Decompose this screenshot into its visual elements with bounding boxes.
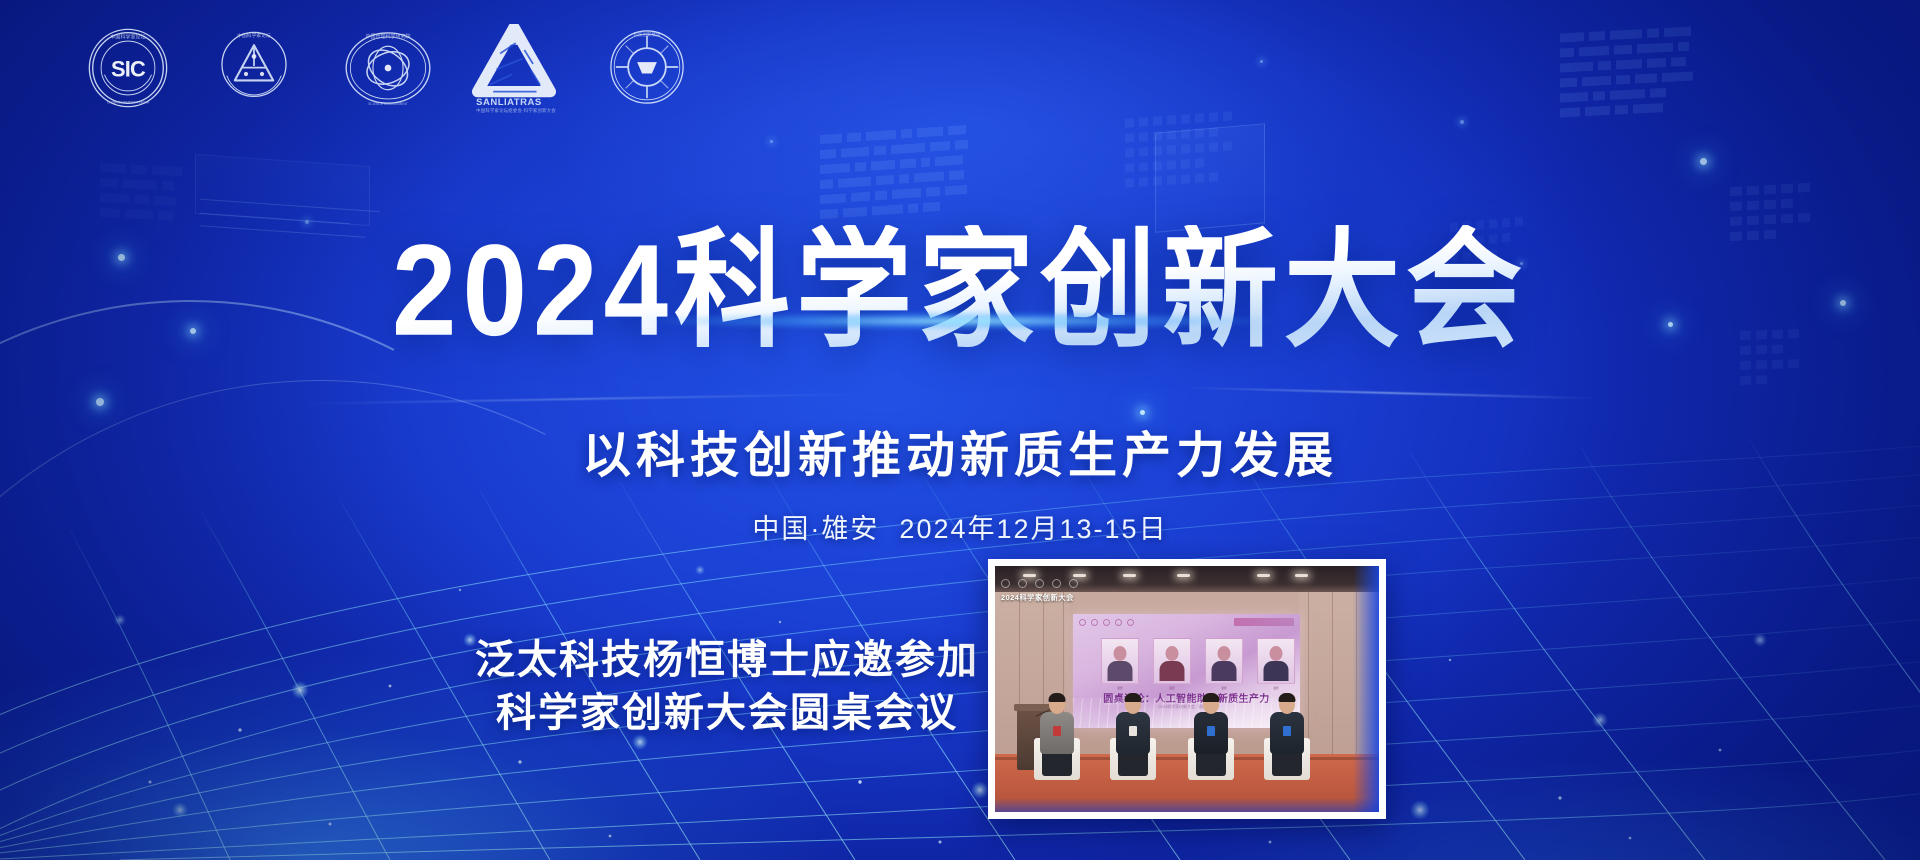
page-title: 2024科学家创新大会: [392, 225, 1528, 355]
sanlitras-logo-label: SANLIATRAS 中国科学家论坛组委会·科学家创新大会: [476, 97, 556, 114]
svg-text:SCIENCE MANAGEMENT: SCIENCE MANAGEMENT: [368, 102, 408, 106]
panel-discussion-photo: 2024科学家创新大会 嘉宾 嘉宾 嘉宾: [988, 559, 1386, 819]
photo-presentation-screen: 嘉宾 嘉宾 嘉宾 嘉宾 圆桌讨论：人工智能助力新质生产力 2024科学家创新大会…: [1073, 614, 1300, 728]
sanlitras-triangle-logo: SANLIATRAS 中国科学家论坛组委会·科学家创新大会: [470, 24, 562, 112]
atom-seal-logo: 中国管理科学研究院 SCIENCE MANAGEMENT: [342, 26, 426, 110]
event-meta: 中国·雄安2024年12月13-15日: [0, 507, 1920, 546]
photo-right-fade: [1353, 566, 1379, 812]
organizer-logos: SIC 中国科学家论坛 CHINA SCIENTIST FORUM: [86, 24, 690, 112]
svg-text:中国管理科学研究院: 中国管理科学研究院: [365, 33, 410, 40]
caption-line-1: 泛太科技杨恒博士应邀参加: [472, 634, 982, 687]
sic-seal-logo: SIC 中国科学家论坛 CHINA SCIENTIST FORUM: [86, 26, 170, 110]
svg-text:SIC: SIC: [111, 56, 146, 81]
svg-text:中国科学家论坛: 中国科学家论坛: [237, 32, 271, 39]
circular-emblem-logo: 科技创新联盟: [606, 26, 690, 110]
photo-hall-banner: 2024科学家创新大会: [1001, 593, 1074, 603]
photo-bottom-fade: [995, 798, 1379, 812]
caption-line-2: 科学家创新大会圆桌会议: [472, 687, 982, 740]
poster-root: SIC 中国科学家论坛 CHINA SCIENTIST FORUM: [0, 0, 1920, 860]
sub-title: 以科技创新推动新质生产力发展: [0, 416, 1920, 487]
svg-text:中国科学家论坛: 中国科学家论坛: [110, 34, 145, 41]
article-caption: 泛太科技杨恒博士应邀参加 科学家创新大会圆桌会议: [472, 634, 982, 740]
triangle-seal-logo: 中国科学家论坛: [214, 26, 298, 110]
photo-hall-icons: [1001, 579, 1078, 588]
svg-text:CHINA SCIENTIST FORUM: CHINA SCIENTIST FORUM: [107, 100, 149, 104]
photo-content: 2024科学家创新大会 嘉宾 嘉宾 嘉宾: [995, 566, 1379, 812]
event-location: 中国·雄安: [752, 514, 879, 544]
event-date: 2024年12月13-15日: [899, 514, 1167, 544]
svg-text:科技创新联盟: 科技创新联盟: [634, 31, 661, 38]
title-underglow: [510, 308, 1410, 334]
photo-screen-header: [1234, 618, 1294, 626]
